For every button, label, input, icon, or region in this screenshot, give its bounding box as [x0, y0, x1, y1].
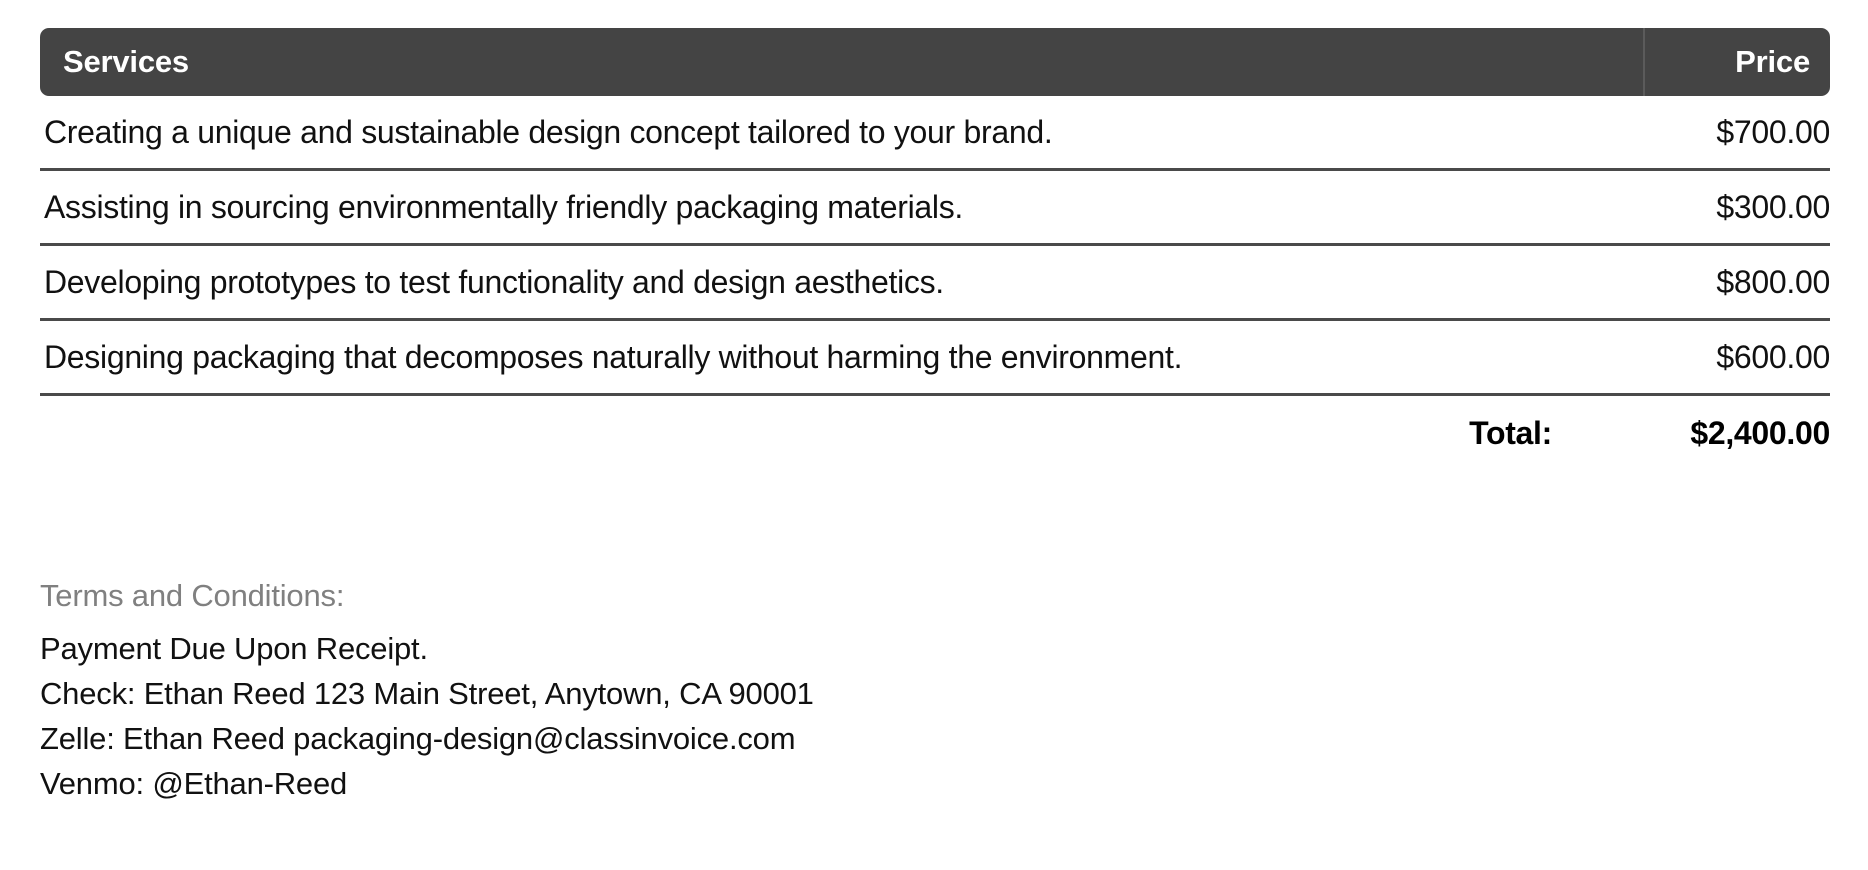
terms-line-zelle: Zelle: Ethan Reed packaging-design@class… [40, 716, 1830, 761]
table-row: Developing prototypes to test functional… [40, 246, 1830, 321]
column-header-services: Services [40, 44, 1643, 80]
terms-and-conditions-section: Terms and Conditions: Payment Due Upon R… [40, 578, 1830, 806]
service-price: $800.00 [1590, 264, 1830, 301]
terms-line-check: Check: Ethan Reed 123 Main Street, Anyto… [40, 671, 1830, 716]
column-header-price: Price [1643, 28, 1830, 96]
invoice-page: Services Price Creating a unique and sus… [0, 0, 1868, 870]
table-row: Designing packaging that decomposes natu… [40, 321, 1830, 396]
service-price: $600.00 [1590, 339, 1830, 376]
terms-title: Terms and Conditions: [40, 578, 1830, 614]
terms-line-venmo: Venmo: @Ethan-Reed [40, 761, 1830, 806]
service-price: $300.00 [1590, 189, 1830, 226]
total-value: $2,400.00 [1652, 415, 1830, 452]
table-row: Creating a unique and sustainable design… [40, 96, 1830, 171]
service-description: Designing packaging that decomposes natu… [40, 339, 1590, 376]
service-description: Assisting in sourcing environmentally fr… [40, 189, 1590, 226]
total-row: Total: $2,400.00 [40, 396, 1830, 470]
total-label: Total: [1469, 415, 1652, 452]
services-price-table: Services Price Creating a unique and sus… [40, 28, 1830, 470]
service-description: Creating a unique and sustainable design… [40, 114, 1590, 151]
table-header-row: Services Price [40, 28, 1830, 96]
service-description: Developing prototypes to test functional… [40, 264, 1590, 301]
terms-line-payment-due: Payment Due Upon Receipt. [40, 626, 1830, 671]
service-price: $700.00 [1590, 114, 1830, 151]
table-row: Assisting in sourcing environmentally fr… [40, 171, 1830, 246]
